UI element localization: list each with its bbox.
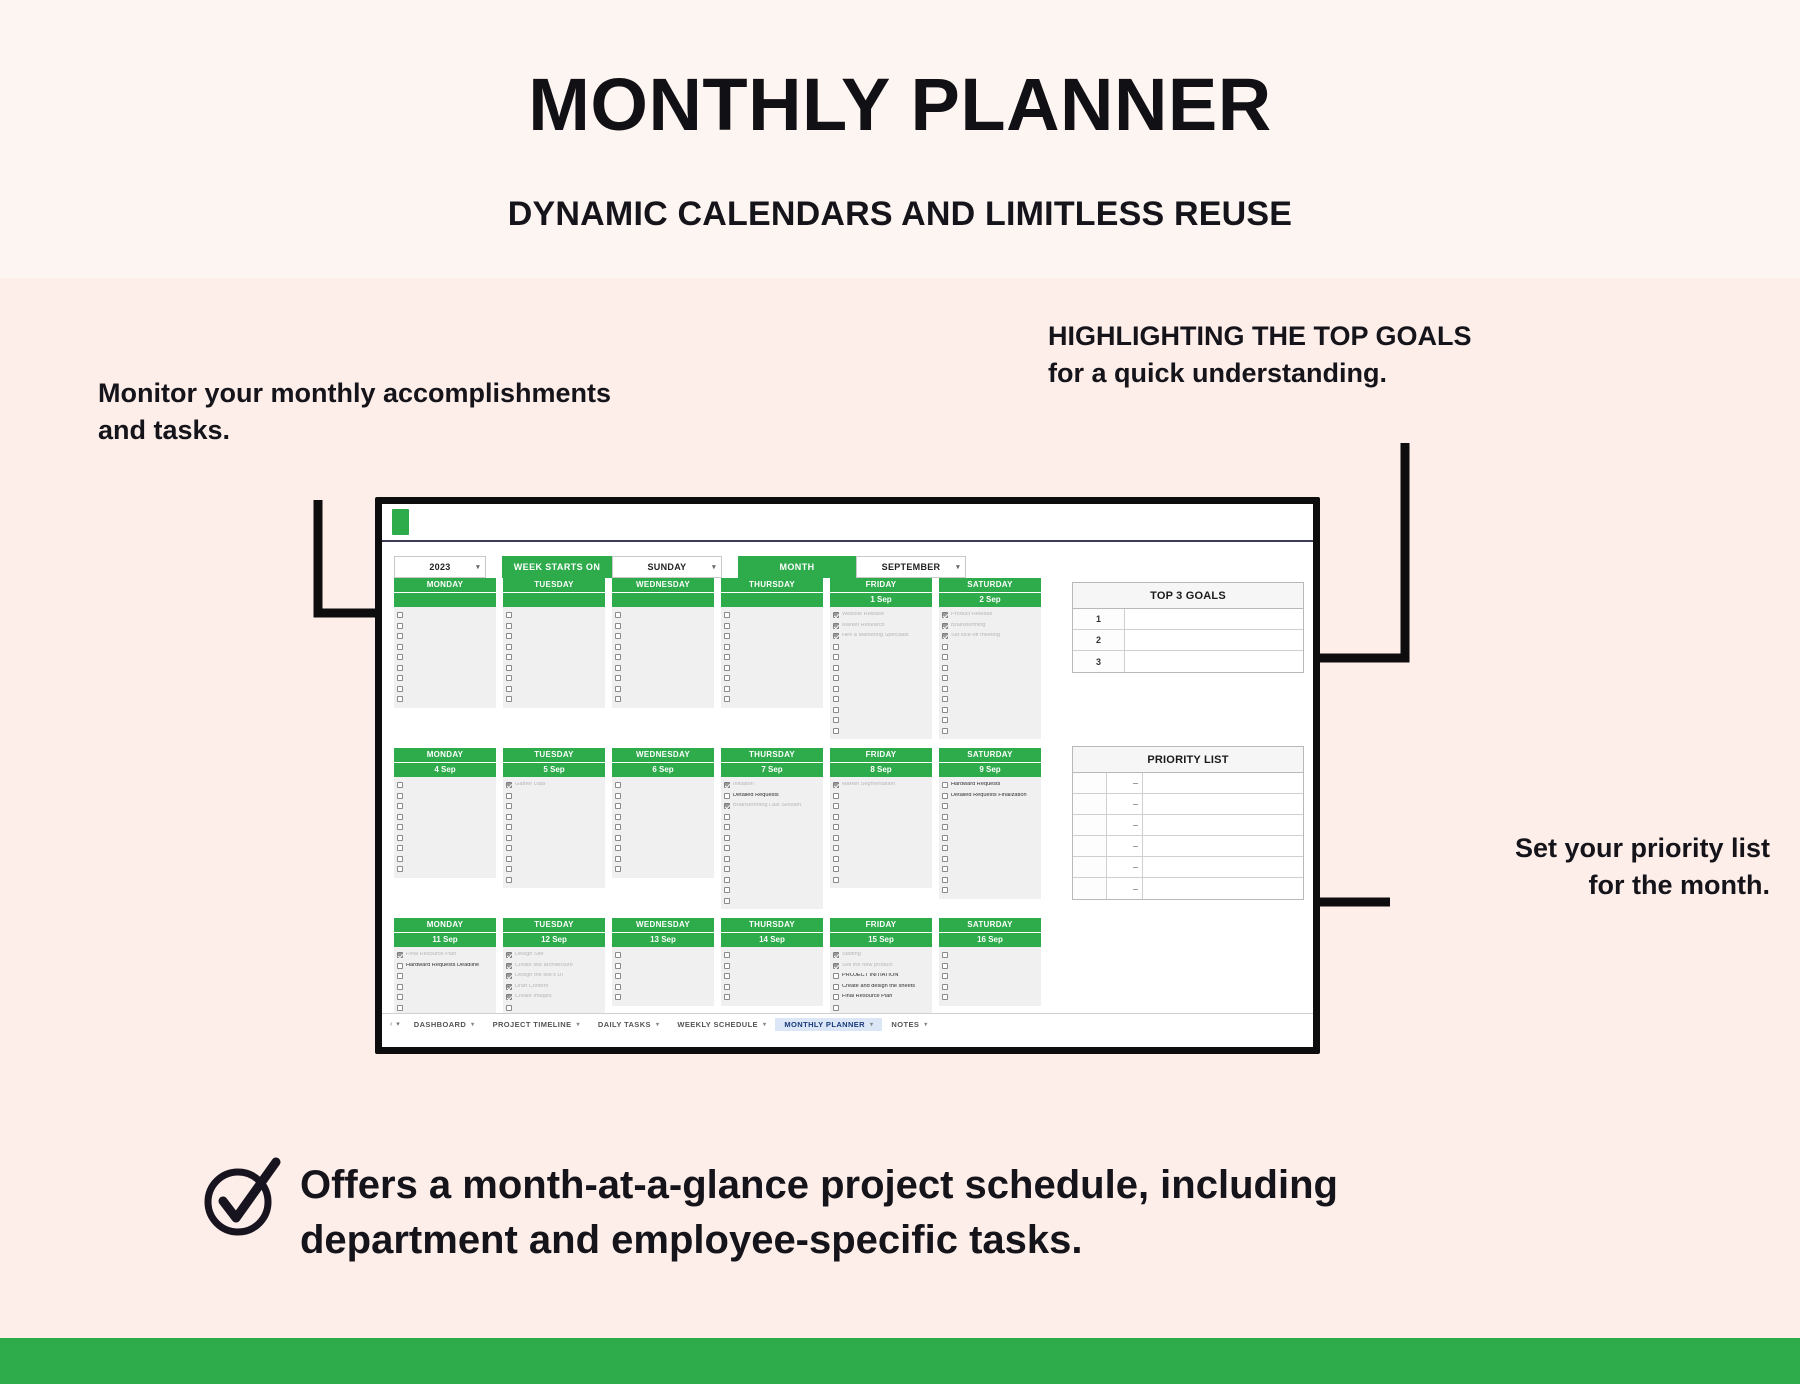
task-item-empty[interactable] [833,822,930,833]
checkbox-icon[interactable] [506,793,512,799]
task-item-empty[interactable] [615,631,712,642]
task-item[interactable]: PROJECT INITIATION [833,971,930,982]
task-item-empty[interactable] [397,621,494,632]
checkbox-icon[interactable] [615,686,621,692]
week-starts-select[interactable]: SUNDAY ▾ [612,556,722,578]
checkbox-icon[interactable] [506,675,512,681]
checkbox-icon[interactable] [506,835,512,841]
task-item-empty[interactable] [506,673,603,684]
checkbox-icon[interactable] [506,686,512,692]
chevron-down-icon[interactable]: ▾ [924,1021,927,1028]
task-item-empty[interactable] [942,864,1039,875]
checkbox-icon[interactable] [724,824,730,830]
task-item-empty[interactable] [506,621,603,632]
checkbox-icon[interactable] [942,866,948,872]
checkbox-icon[interactable] [833,824,839,830]
task-item-empty[interactable] [724,971,821,982]
task-item[interactable]: Design the site's UI [506,971,603,982]
priority-dropdown-cell[interactable] [1107,794,1143,814]
task-item-empty[interactable] [615,621,712,632]
checkbox-icon[interactable] [724,686,730,692]
task-item-empty[interactable] [506,854,603,865]
task-item-empty[interactable] [942,715,1039,726]
task-item-empty[interactable] [942,705,1039,716]
task-item-empty[interactable] [397,1003,494,1014]
checkbox-icon[interactable] [615,824,621,830]
checkbox-icon[interactable] [615,803,621,809]
task-item-empty[interactable] [833,791,930,802]
checkbox-icon[interactable] [724,963,730,969]
task-item-empty[interactable] [397,971,494,982]
task-item[interactable]: Set kick-off meeting [942,631,1039,642]
checkbox-icon[interactable] [397,856,403,862]
top-goal-input[interactable] [1125,651,1303,672]
checkbox-icon[interactable] [397,994,403,1000]
task-item-empty[interactable] [615,791,712,802]
checkbox-icon[interactable] [833,877,839,883]
year-select[interactable]: 2023 ▾ [394,556,486,578]
task-item-empty[interactable] [615,812,712,823]
checkbox-icon[interactable] [615,696,621,702]
task-item[interactable]: Draft Content [506,982,603,993]
checkbox-icon[interactable] [506,856,512,862]
checkbox-icon[interactable] [724,654,730,660]
task-item-empty[interactable] [833,843,930,854]
task-item-empty[interactable] [942,843,1039,854]
checkbox-icon[interactable] [833,696,839,702]
checkbox-icon[interactable] [724,612,730,618]
chevron-down-icon[interactable]: ▾ [656,1021,659,1028]
priority-row[interactable] [1073,794,1303,815]
task-item-empty[interactable] [615,801,712,812]
checkbox-icon[interactable] [506,877,512,883]
task-item-empty[interactable] [833,642,930,653]
calendar-day-cell[interactable]: WEDNESDAY [612,578,714,739]
task-item-empty[interactable] [397,791,494,802]
checkbox-icon[interactable] [833,793,839,799]
checkbox-icon[interactable] [942,793,948,799]
calendar-day-cell[interactable]: THURSDAY [721,578,823,739]
checkbox-icon[interactable] [506,824,512,830]
task-item-empty[interactable] [397,631,494,642]
task-item-empty[interactable] [615,694,712,705]
sheet-tab[interactable]: WEEKLY SCHEDULE▾ [668,1018,775,1031]
checkbox-icon[interactable] [615,793,621,799]
task-item-empty[interactable] [833,875,930,886]
checkbox-icon[interactable] [942,644,948,650]
task-item-empty[interactable] [942,663,1039,674]
checkbox-icon[interactable] [615,866,621,872]
checkbox-icon[interactable] [506,845,512,851]
top-goal-row[interactable]: 2 [1073,630,1303,651]
checkbox-checked-icon[interactable] [506,984,512,990]
calendar-day-cell[interactable]: MONDAY [394,578,496,739]
checkbox-icon[interactable] [615,665,621,671]
task-item[interactable]: Create site architecture [506,961,603,972]
checkbox-icon[interactable] [615,675,621,681]
task-item-empty[interactable] [833,673,930,684]
checkbox-icon[interactable] [397,866,403,872]
task-item[interactable]: Final Resource Plan [833,992,930,1003]
task-item-empty[interactable] [724,875,821,886]
chevron-down-icon[interactable]: ▾ [471,1021,474,1028]
task-item-empty[interactable] [942,971,1039,982]
task-item-empty[interactable] [397,833,494,844]
priority-input[interactable] [1143,878,1303,899]
calendar-day-cell[interactable]: SATURDAY2 SepProduct ReleaseBrainstormin… [939,578,1041,739]
checkbox-icon[interactable] [397,644,403,650]
checkbox-icon[interactable] [724,835,730,841]
task-item-empty[interactable] [506,843,603,854]
task-item[interactable]: Website Release [833,610,930,621]
task-item-empty[interactable] [942,854,1039,865]
task-item-empty[interactable] [833,684,930,695]
task-item-empty[interactable] [615,961,712,972]
priority-dropdown-cell[interactable] [1107,773,1143,793]
task-item-empty[interactable] [397,694,494,705]
calendar-day-cell[interactable]: MONDAY4 Sep [394,748,496,909]
task-item-empty[interactable] [506,864,603,875]
checkbox-icon[interactable] [724,623,730,629]
task-item-empty[interactable] [942,982,1039,993]
task-item-empty[interactable] [615,673,712,684]
task-item-empty[interactable] [724,673,821,684]
task-item-empty[interactable] [724,642,821,653]
checkbox-icon[interactable] [615,623,621,629]
checkbox-checked-icon[interactable] [942,633,948,639]
checkbox-checked-icon[interactable] [397,952,403,958]
task-item-empty[interactable] [724,885,821,896]
checkbox-icon[interactable] [615,984,621,990]
checkbox-icon[interactable] [397,793,403,799]
sheet-tab[interactable]: DASHBOARD▾ [405,1018,484,1031]
top-goal-input[interactable] [1125,609,1303,629]
priority-input[interactable] [1143,857,1303,877]
checkbox-icon[interactable] [724,793,730,799]
checkbox-checked-icon[interactable] [506,952,512,958]
checkbox-icon[interactable] [724,814,730,820]
checkbox-icon[interactable] [833,1005,839,1011]
task-item-empty[interactable] [397,854,494,865]
priority-row[interactable] [1073,857,1303,878]
checkbox-checked-icon[interactable] [833,782,839,788]
checkbox-icon[interactable] [833,814,839,820]
checkbox-icon[interactable] [942,686,948,692]
checkbox-icon[interactable] [615,845,621,851]
month-select[interactable]: SEPTEMBER ▾ [856,556,966,578]
task-item-empty[interactable] [615,971,712,982]
task-item[interactable]: Design Site [506,950,603,961]
task-item-empty[interactable] [506,791,603,802]
checkbox-icon[interactable] [833,686,839,692]
checkbox-icon[interactable] [506,644,512,650]
checkbox-icon[interactable] [833,717,839,723]
sheet-tab[interactable]: MONTHLY PLANNER▾ [775,1018,882,1031]
priority-input[interactable] [1143,794,1303,814]
top-goal-input[interactable] [1125,630,1303,650]
task-item-empty[interactable] [506,1003,603,1014]
priority-row[interactable] [1073,878,1303,899]
checkbox-icon[interactable] [397,633,403,639]
task-item-empty[interactable] [506,652,603,663]
priority-dropdown-cell[interactable] [1107,857,1143,877]
checkbox-checked-icon[interactable] [506,994,512,1000]
task-item[interactable]: Create and design the sheets [833,982,930,993]
task-item-empty[interactable] [397,663,494,674]
task-item[interactable]: Market Segmentation [833,780,930,791]
task-item-empty[interactable] [942,673,1039,684]
checkbox-icon[interactable] [833,994,839,1000]
task-item[interactable]: Brainstorming Last Session [724,801,821,812]
task-item-empty[interactable] [833,854,930,865]
checkbox-icon[interactable] [397,696,403,702]
checkbox-icon[interactable] [397,845,403,851]
checkbox-icon[interactable] [724,665,730,671]
checkbox-icon[interactable] [506,654,512,660]
task-item-empty[interactable] [833,694,930,705]
checkbox-icon[interactable] [942,877,948,883]
task-item[interactable]: Initiation [724,780,821,791]
checkbox-icon[interactable] [724,856,730,862]
task-item-empty[interactable] [724,610,821,621]
task-item[interactable]: Staffing [833,950,930,961]
chevron-down-icon[interactable]: ▾ [763,1021,766,1028]
task-item-empty[interactable] [397,843,494,854]
task-item-empty[interactable] [833,1003,930,1014]
task-item-empty[interactable] [942,875,1039,886]
priority-row[interactable] [1073,773,1303,794]
task-item-empty[interactable] [724,812,821,823]
checkbox-icon[interactable] [724,644,730,650]
task-item-empty[interactable] [506,663,603,674]
checkbox-icon[interactable] [506,803,512,809]
checkbox-icon[interactable] [833,866,839,872]
checkbox-checked-icon[interactable] [724,803,730,809]
checkbox-icon[interactable] [833,707,839,713]
task-item-empty[interactable] [506,642,603,653]
priority-input[interactable] [1143,773,1303,793]
task-item-empty[interactable] [615,864,712,875]
task-item-empty[interactable] [397,642,494,653]
task-item-empty[interactable] [833,705,930,716]
checkbox-checked-icon[interactable] [833,963,839,969]
task-item-empty[interactable] [833,864,930,875]
task-item-empty[interactable] [724,694,821,705]
task-item-empty[interactable] [942,992,1039,1003]
task-item-empty[interactable] [615,843,712,854]
checkbox-icon[interactable] [833,1047,839,1053]
checkbox-icon[interactable] [942,856,948,862]
checkbox-icon[interactable] [397,1005,403,1011]
task-item-empty[interactable] [724,950,821,961]
task-item[interactable]: Final Resource Plan [397,950,494,961]
checkbox-icon[interactable] [506,665,512,671]
task-item-empty[interactable] [615,822,712,833]
checkbox-icon[interactable] [724,866,730,872]
task-item-empty[interactable] [724,833,821,844]
task-item-empty[interactable] [397,684,494,695]
task-item[interactable]: Create Images [506,992,603,1003]
chevron-down-icon[interactable]: ▾ [870,1021,873,1028]
task-item[interactable]: Market Research [833,621,930,632]
task-item-empty[interactable] [724,843,821,854]
calendar-day-cell[interactable]: WEDNESDAY6 Sep [612,748,714,909]
checkbox-icon[interactable] [397,782,403,788]
checkbox-checked-icon[interactable] [942,623,948,629]
checkbox-icon[interactable] [397,654,403,660]
task-item[interactable]: Detailed Requests [724,791,821,802]
checkbox-icon[interactable] [942,675,948,681]
task-item[interactable]: Hardward Requests [942,780,1039,791]
checkbox-icon[interactable] [506,1005,512,1011]
checkbox-icon[interactable] [615,612,621,618]
checkbox-icon[interactable] [942,717,948,723]
checkbox-icon[interactable] [833,984,839,990]
calendar-day-cell[interactable]: TUESDAY [503,578,605,739]
task-item-empty[interactable] [942,833,1039,844]
task-item-empty[interactable] [506,694,603,705]
checkbox-icon[interactable] [833,644,839,650]
checkbox-icon[interactable] [397,665,403,671]
task-item-empty[interactable] [397,992,494,1003]
task-item-empty[interactable] [615,642,712,653]
task-item-empty[interactable] [724,896,821,907]
checkbox-icon[interactable] [724,952,730,958]
task-item-empty[interactable] [397,801,494,812]
checkbox-icon[interactable] [942,984,948,990]
checkbox-checked-icon[interactable] [724,782,730,788]
checkbox-icon[interactable] [615,835,621,841]
task-item-empty[interactable] [506,822,603,833]
task-item-empty[interactable] [942,801,1039,812]
checkbox-icon[interactable] [942,803,948,809]
checkbox-icon[interactable] [833,665,839,671]
checkbox-icon[interactable] [833,803,839,809]
priority-row[interactable] [1073,815,1303,836]
checkbox-icon[interactable] [724,887,730,893]
task-item[interactable]: Hire a Marketing Specialist [833,631,930,642]
priority-input[interactable] [1143,815,1303,835]
checkbox-icon[interactable] [942,845,948,851]
checkbox-icon[interactable] [397,984,403,990]
task-item-empty[interactable] [615,982,712,993]
chevron-down-icon[interactable]: ▾ [576,1021,579,1028]
task-item-empty[interactable] [506,684,603,695]
checkbox-icon[interactable] [942,707,948,713]
checkbox-checked-icon[interactable] [833,633,839,639]
task-item-empty[interactable] [942,642,1039,653]
task-item-empty[interactable] [397,673,494,684]
task-item-empty[interactable] [615,854,712,865]
checkbox-icon[interactable] [397,963,403,969]
task-item-empty[interactable] [724,822,821,833]
checkbox-icon[interactable] [724,845,730,851]
checkbox-icon[interactable] [942,973,948,979]
checkbox-icon[interactable] [506,612,512,618]
checkbox-checked-icon[interactable] [506,782,512,788]
checkbox-icon[interactable] [397,824,403,830]
task-item-empty[interactable] [724,631,821,642]
checkbox-icon[interactable] [724,994,730,1000]
checkbox-icon[interactable] [397,973,403,979]
checkbox-icon[interactable] [506,1047,512,1053]
task-item-empty[interactable] [506,875,603,886]
task-item-empty[interactable] [506,631,603,642]
checkbox-icon[interactable] [397,835,403,841]
checkbox-icon[interactable] [942,782,948,788]
checkbox-icon[interactable] [942,665,948,671]
checkbox-icon[interactable] [942,728,948,734]
checkbox-icon[interactable] [397,612,403,618]
task-item-empty[interactable] [942,961,1039,972]
task-item-empty[interactable] [833,663,930,674]
checkbox-icon[interactable] [833,973,839,979]
task-item-empty[interactable] [833,726,930,737]
checkbox-icon[interactable] [724,973,730,979]
task-item[interactable]: Gather Data [506,780,603,791]
task-item-empty[interactable] [506,812,603,823]
task-item-empty[interactable] [397,812,494,823]
checkbox-icon[interactable] [397,675,403,681]
task-item-empty[interactable] [397,780,494,791]
sheet-tab[interactable]: NOTES▾ [882,1018,936,1031]
task-item-empty[interactable] [942,726,1039,737]
checkbox-icon[interactable] [833,728,839,734]
task-item-empty[interactable] [615,663,712,674]
checkbox-icon[interactable] [506,633,512,639]
task-item-empty[interactable] [397,822,494,833]
task-item-empty[interactable] [724,684,821,695]
calendar-day-cell[interactable]: TUESDAY5 SepGather Data [503,748,605,909]
task-item-empty[interactable] [724,961,821,972]
task-item-empty[interactable] [615,833,712,844]
task-item-empty[interactable] [724,864,821,875]
checkbox-icon[interactable] [397,803,403,809]
checkbox-icon[interactable] [833,856,839,862]
task-item-empty[interactable] [833,833,930,844]
checkbox-checked-icon[interactable] [833,623,839,629]
checkbox-icon[interactable] [833,675,839,681]
checkbox-checked-icon[interactable] [833,952,839,958]
checkbox-icon[interactable] [397,814,403,820]
checkbox-icon[interactable] [942,824,948,830]
task-item[interactable]: Sell the new product [833,961,930,972]
calendar-day-cell[interactable]: THURSDAY7 SepInitiationDetailed Requests… [721,748,823,909]
task-item-empty[interactable] [724,982,821,993]
task-item-empty[interactable] [724,854,821,865]
checkbox-icon[interactable] [942,952,948,958]
checkbox-icon[interactable] [615,814,621,820]
task-item-empty[interactable] [833,715,930,726]
checkbox-icon[interactable] [833,845,839,851]
task-item-empty[interactable] [942,885,1039,896]
checkbox-icon[interactable] [615,644,621,650]
task-item-empty[interactable] [615,684,712,695]
task-item-empty[interactable] [724,621,821,632]
calendar-day-cell[interactable]: FRIDAY8 SepMarket Segmentation [830,748,932,909]
task-item[interactable]: Hardward Requests Deadline [397,961,494,972]
priority-dropdown-cell[interactable] [1107,815,1143,835]
checkbox-icon[interactable] [397,623,403,629]
sheet-tab[interactable]: DAILY TASKS▾ [589,1018,668,1031]
checkbox-icon[interactable] [615,973,621,979]
task-item-empty[interactable] [942,812,1039,823]
checkbox-icon[interactable] [615,856,621,862]
top-goal-row[interactable]: 3 [1073,651,1303,672]
checkbox-icon[interactable] [724,984,730,990]
task-item-empty[interactable] [833,801,930,812]
checkbox-checked-icon[interactable] [833,612,839,618]
